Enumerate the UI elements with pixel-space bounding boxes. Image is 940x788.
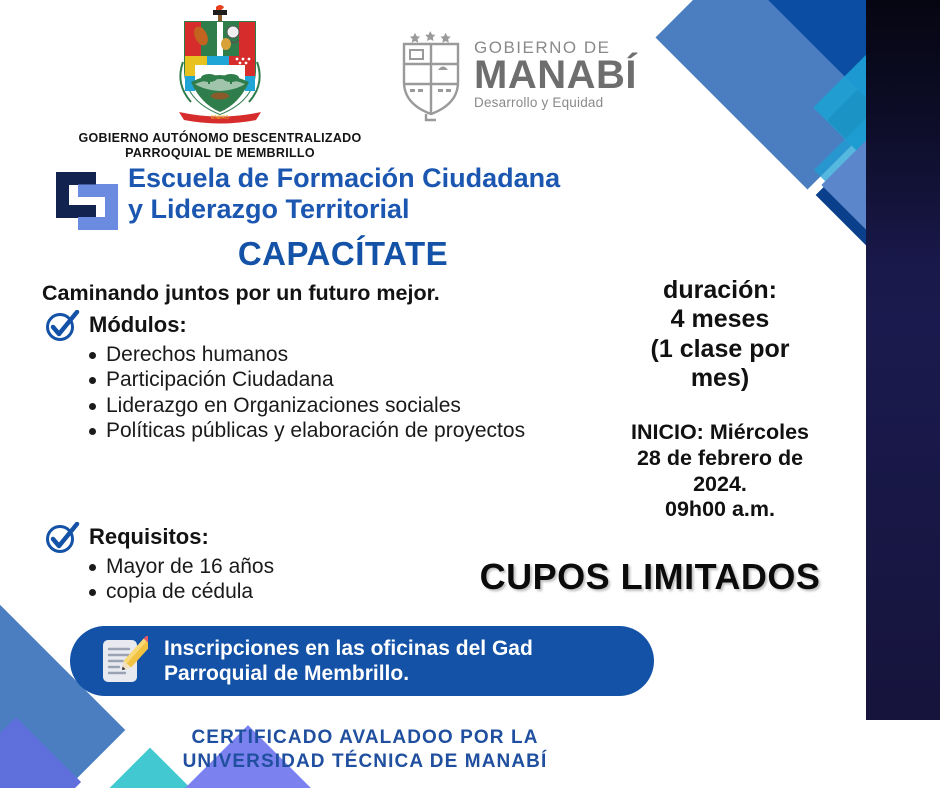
start-date-line1: INICIO: Miércoles	[575, 420, 865, 446]
manabi-logo-block: GOBIERNO DE MANABÍ Desarrollo y Equidad	[398, 26, 637, 122]
bullet-dot	[89, 377, 96, 384]
poster-canvas: ENERO GOBIERNO AUTÓNOMO DESCENTRALIZADO …	[0, 0, 940, 788]
requisitos-list: Mayor de 16 años copia de cédula	[44, 555, 474, 605]
list-item-text: Participación Ciudadana	[106, 368, 334, 391]
list-item-text: Derechos humanos	[106, 343, 288, 366]
deco-square-black	[827, 35, 940, 205]
bullet-dot	[89, 589, 96, 596]
deco-square-cyan-light	[814, 64, 940, 276]
duration-line3: (1 clase por	[575, 335, 865, 364]
gad-name: GOBIERNO AUTÓNOMO DESCENTRALIZADO PARROQ…	[60, 131, 380, 161]
deco-square-soft-blue	[821, 121, 940, 248]
deco-right-dark-band	[866, 0, 940, 720]
list-item: Liderazgo en Organizaciones sociales	[106, 394, 564, 418]
duration-line1: duración:	[575, 276, 865, 305]
gad-name-line2: PARROQUIAL DE MEMBRILLO	[60, 146, 380, 161]
gad-logo-block: ENERO GOBIERNO AUTÓNOMO DESCENTRALIZADO …	[60, 4, 380, 161]
list-item-text: Mayor de 16 años	[106, 555, 274, 578]
bullet-dot	[89, 428, 96, 435]
deco-square-cyan	[813, 0, 940, 274]
section-modulos: Módulos: Derechos humanos Participación …	[44, 310, 564, 444]
list-item-text: Políticas públicas y elaboración de proy…	[106, 419, 525, 442]
section-modulos-label: Módulos:	[89, 312, 187, 338]
list-item: Participación Ciudadana	[106, 368, 564, 392]
registration-line2: Parroquial de Membrillo.	[164, 661, 533, 686]
slogan-text: Caminando juntos por un futuro mejor.	[42, 281, 562, 306]
coat-of-arms-icon: ENERO	[161, 4, 279, 124]
list-item-text: copia de cédula	[106, 580, 253, 603]
deco-square-strong-blue	[768, 0, 940, 177]
start-date-line2: 28 de febrero de	[575, 446, 865, 472]
svg-text:ENERO: ENERO	[211, 115, 229, 121]
start-date-line3: 2024.	[575, 472, 865, 498]
registration-banner-text: Inscripciones en las oficinas del Gad Pa…	[164, 636, 533, 686]
check-circle-icon	[44, 310, 80, 342]
section-requisitos-label: Requisitos:	[89, 524, 209, 550]
duration-line4: mes)	[575, 364, 865, 393]
page-title-line1: Escuela de Formación Ciudadana	[128, 163, 688, 194]
section-requisitos-header: Requisitos:	[44, 522, 474, 554]
duration-block: duración: 4 meses (1 clase por mes)	[575, 276, 865, 393]
deco-square-medium-blue	[655, 0, 940, 190]
note-pencil-icon	[98, 636, 148, 686]
list-item-text: Liderazgo en Organizaciones sociales	[106, 394, 461, 417]
list-item: Mayor de 16 años	[106, 555, 474, 579]
list-item: copia de cédula	[106, 580, 474, 604]
list-item: Derechos humanos	[106, 343, 564, 367]
bullet-dot	[89, 403, 96, 410]
start-date-line4: 09h00 a.m.	[575, 497, 865, 523]
gad-name-line1: GOBIERNO AUTÓNOMO DESCENTRALIZADO	[60, 131, 380, 146]
start-date-block: INICIO: Miércoles 28 de febrero de 2024.…	[575, 420, 865, 523]
bullet-dot	[89, 564, 96, 571]
modulos-list: Derechos humanos Participación Ciudadana…	[44, 343, 564, 443]
footer-line2: UNIVERSIDAD TÉCNICA DE MANABÍ	[120, 750, 610, 774]
page-title-line2: y Liderazgo Territorial	[128, 194, 688, 225]
manabi-tagline: Desarrollo y Equidad	[474, 96, 637, 110]
capacitate-heading: CAPACÍTATE	[128, 235, 558, 273]
interlocking-brackets-logo	[52, 168, 122, 234]
registration-line1: Inscripciones en las oficinas del Gad	[164, 636, 533, 661]
manabi-line2: MANABÍ	[474, 56, 637, 95]
footer-line1: CERTIFICADO AVALADOO POR LA	[120, 726, 610, 750]
deco-bottomleft-square-periwinkle	[0, 717, 81, 788]
duration-line2: 4 meses	[575, 305, 865, 334]
section-requisitos: Requisitos: Mayor de 16 años copia de cé…	[44, 522, 474, 606]
manabi-wordmark: GOBIERNO DE MANABÍ Desarrollo y Equidad	[474, 39, 637, 110]
certification-footer: CERTIFICADO AVALADOO POR LA UNIVERSIDAD …	[120, 726, 610, 774]
page-title: Escuela de Formación Ciudadana y Lideraz…	[128, 163, 688, 226]
bullet-dot	[89, 352, 96, 359]
check-circle-icon	[44, 522, 80, 554]
deco-right-band-flare	[866, 0, 940, 260]
list-item: Políticas públicas y elaboración de proy…	[106, 419, 564, 443]
registration-banner[interactable]: Inscripciones en las oficinas del Gad Pa…	[70, 626, 654, 696]
manabi-shield-icon	[398, 26, 464, 122]
section-modulos-header: Módulos:	[44, 310, 564, 342]
limited-slots-badge: CUPOS LIMITADOS	[440, 556, 860, 598]
